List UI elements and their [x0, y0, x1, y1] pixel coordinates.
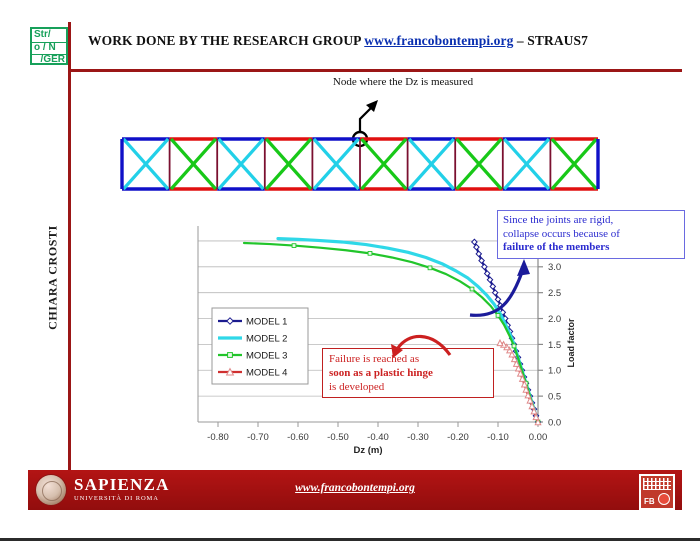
node-callout-label: Node where the Dz is measured: [288, 76, 518, 88]
chart-xtick-label: -0.80: [207, 432, 229, 443]
chart-xtick-label: -0.40: [367, 432, 389, 443]
legend-label-1: MODEL 1: [246, 317, 287, 328]
logo-line-2: o / N: [32, 42, 66, 55]
chart-marker-square: [512, 344, 516, 348]
chart-ytick-label: 3.0: [548, 262, 561, 273]
page-title: WORK DONE BY THE RESEARCH GROUP www.fran…: [88, 33, 648, 49]
callout-red-line-2: soon as a plastic hinge: [329, 366, 487, 380]
footer-bar: SAPIENZA UNIVERSITÀ DI ROMA www.francobo…: [28, 470, 682, 510]
truss-members: [122, 139, 598, 189]
chart-xtick-label: 0.00: [529, 432, 548, 443]
chart-ytick-label: 2.0: [548, 314, 561, 325]
truss-diagram: Node where the Dz is measured: [110, 76, 610, 196]
legend-label-3: MODEL 3: [246, 351, 287, 362]
header-rule: [68, 69, 682, 72]
chart-yaxis-title: Load factor: [566, 318, 576, 368]
chart-marker-square: [496, 314, 500, 318]
chart-xtick-label: -0.30: [407, 432, 429, 443]
header-url-link[interactable]: www.francobontempi.org: [364, 33, 513, 48]
logo-line-3: /GER: [32, 54, 66, 67]
callout-red-line-3: is developed: [329, 380, 487, 394]
chart-ytick-label: 0.0: [548, 417, 561, 428]
fb-logo-inner: FB: [641, 476, 673, 508]
page-title-prefix: WORK DONE BY THE RESEARCH GROUP: [88, 33, 364, 48]
chart-xtick-label: -0.20: [447, 432, 469, 443]
legend-label-2: MODEL 2: [246, 334, 287, 345]
fb-logo-text: FB: [644, 498, 655, 506]
chart-marker-square: [428, 266, 432, 270]
university-subtitle: UNIVERSITÀ DI ROMA: [74, 495, 170, 502]
left-vertical-rule: [68, 22, 71, 472]
truss-svg: [110, 76, 610, 196]
chart-ytick-label: 1.5: [548, 340, 561, 351]
chart-xtick-label: -0.50: [327, 432, 349, 443]
stronger-logo: Str/ o / N /GER: [30, 27, 68, 65]
legend-label-4: MODEL 4: [246, 368, 287, 379]
chart-xaxis-title: Dz (m): [353, 445, 382, 456]
legend-marker-square: [228, 353, 233, 358]
footer-url-link[interactable]: www.francobontempi.org: [28, 482, 682, 494]
chart-marker-square: [368, 251, 372, 255]
chart-ytick-label: 2.5: [548, 288, 561, 299]
page-title-suffix: – STRAUS7: [513, 33, 588, 48]
logo-line-1: Str/: [32, 29, 66, 42]
fb-logo-icon: FB: [639, 474, 675, 510]
chart-xtick-label: -0.70: [247, 432, 269, 443]
chart-marker-square: [470, 287, 474, 291]
chart-ytick-label: 1.0: [548, 366, 561, 377]
fb-logo-dot: [658, 493, 670, 505]
callout-red-line-1: Failure is reached as: [329, 352, 487, 366]
callout-red: Failure is reached as soon as a plastic …: [322, 348, 494, 398]
fb-logo-grid: [643, 478, 671, 490]
chart-xtick-label: -0.10: [487, 432, 509, 443]
callout-blue-line-1: Since the joints are rigid,: [503, 214, 679, 228]
slide-root: Str/ o / N /GER WORK DONE BY THE RESEARC…: [0, 0, 700, 541]
callout-blue: Since the joints are rigid, collapse occ…: [497, 210, 685, 259]
chart-xtick-label: -0.60: [287, 432, 309, 443]
chart-ytick-label: 0.5: [548, 392, 561, 403]
chart-marker-square: [292, 244, 296, 248]
callout-blue-line-3: failure of the members: [503, 241, 679, 255]
callout-blue-line-2: collapse occurs because of: [503, 228, 679, 242]
node-pointer-arrow: [360, 107, 372, 135]
author-name: CHIARA CROSTI: [46, 193, 61, 363]
